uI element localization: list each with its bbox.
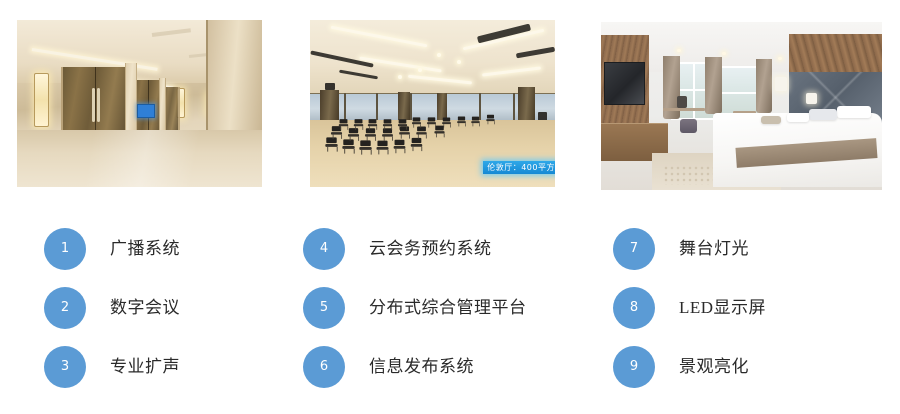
feature-item-8[interactable]: 8 LED显示屏	[613, 287, 766, 329]
feature-item-5[interactable]: 5 分布式综合管理平台	[303, 287, 527, 329]
guest-room-scene	[601, 22, 882, 190]
ceiling-speaker	[325, 83, 335, 90]
bedside-lamp-shade	[806, 93, 817, 104]
feature-item-1[interactable]: 1 广播系统	[44, 228, 180, 270]
chair	[383, 119, 392, 130]
feature-list: 1 广播系统 2 数字会议 3 专业扩声 4 云会务预约系统 5 分布式综合管理…	[0, 213, 900, 414]
feature-item-3[interactable]: 3 专业扩声	[44, 346, 180, 388]
curtain	[437, 93, 447, 120]
elevator-lobby-scene	[17, 20, 262, 187]
window-mullion	[376, 93, 378, 120]
feature-label: 景观亮化	[679, 346, 749, 388]
feature-label: 分布式综合管理平台	[369, 287, 527, 329]
ottoman	[680, 119, 697, 133]
chair	[382, 128, 393, 140]
feature-column-2: 4 云会务预约系统 5 分布式综合管理平台 6 信息发布系统	[303, 213, 593, 414]
window-mullion	[410, 93, 412, 120]
feature-label: 云会务预约系统	[369, 228, 492, 270]
chair	[368, 119, 377, 130]
feature-column-1: 1 广播系统 2 数字会议 3 专业扩声	[44, 213, 334, 414]
chair	[457, 116, 466, 126]
feature-label: 舞台灯光	[679, 228, 749, 270]
chair	[411, 138, 422, 151]
desk-chair	[677, 96, 687, 108]
ceiling-downlight	[677, 49, 681, 52]
chair	[486, 115, 494, 125]
floor-lamp-shade	[775, 77, 787, 91]
feature-column-3: 7 舞台灯光 8 LED显示屏 9 景观亮化	[613, 213, 900, 414]
television	[604, 62, 645, 104]
window-mullion	[344, 93, 346, 120]
window-mullion	[513, 93, 515, 120]
elevator-handle	[92, 88, 95, 122]
chair	[398, 119, 407, 130]
feature-label: 信息发布系统	[369, 346, 474, 388]
chair	[353, 119, 362, 130]
chair	[442, 118, 451, 128]
lobby-display-screen	[137, 104, 155, 118]
photo-conference-hall[interactable]: 伦敦厅：400平方	[310, 20, 555, 187]
chair	[342, 139, 354, 153]
pillow	[837, 106, 871, 118]
curtain	[756, 59, 773, 113]
pillow	[809, 109, 837, 120]
chair	[394, 139, 406, 153]
feature-item-6[interactable]: 6 信息发布系统	[303, 346, 474, 388]
feature-number-badge: 4	[303, 228, 345, 270]
feature-item-4[interactable]: 4 云会务预约系统	[303, 228, 492, 270]
conference-hall-scene: 伦敦厅：400平方	[310, 20, 555, 187]
feature-label: 广播系统	[110, 228, 180, 270]
lobby-floor-reflection	[17, 130, 262, 187]
feature-number-badge: 5	[303, 287, 345, 329]
chair	[472, 116, 480, 126]
chair	[377, 141, 389, 155]
feature-label: 专业扩声	[110, 346, 180, 388]
feature-item-2[interactable]: 2 数字会议	[44, 287, 180, 329]
wall-panel	[159, 78, 166, 135]
feature-number-badge: 6	[303, 346, 345, 388]
bolster-cushion	[761, 116, 781, 124]
chair	[412, 118, 421, 128]
photo-elevator-lobby[interactable]	[17, 20, 262, 187]
feature-label: LED显示屏	[679, 287, 766, 329]
curtain	[398, 92, 410, 122]
curtain	[705, 57, 722, 114]
feature-number-badge: 7	[613, 228, 655, 270]
chair	[339, 119, 348, 130]
chair	[417, 127, 427, 139]
feature-number-badge: 1	[44, 228, 86, 270]
feature-label: 数字会议	[110, 287, 180, 329]
chair	[359, 141, 371, 155]
feature-number-badge: 9	[613, 346, 655, 388]
feature-number-badge: 2	[44, 287, 86, 329]
elevator-handle	[97, 88, 100, 122]
hall-caption-badge: 伦敦厅：400平方	[483, 161, 555, 174]
chair	[365, 128, 376, 141]
feature-number-badge: 8	[613, 287, 655, 329]
chair	[325, 137, 337, 151]
pillow	[787, 113, 809, 122]
feature-item-9[interactable]: 9 景观亮化	[613, 346, 749, 388]
chair	[348, 128, 359, 141]
wall-sconce	[34, 73, 49, 127]
photo-gallery: 伦敦厅：400平方	[0, 0, 900, 200]
photo-guest-room[interactable]	[601, 22, 882, 190]
feature-item-7[interactable]: 7 舞台灯光	[613, 228, 749, 270]
wood-wall-panel-right	[789, 34, 882, 74]
feature-number-badge: 3	[44, 346, 86, 388]
desk	[663, 108, 705, 111]
chair	[427, 118, 436, 128]
